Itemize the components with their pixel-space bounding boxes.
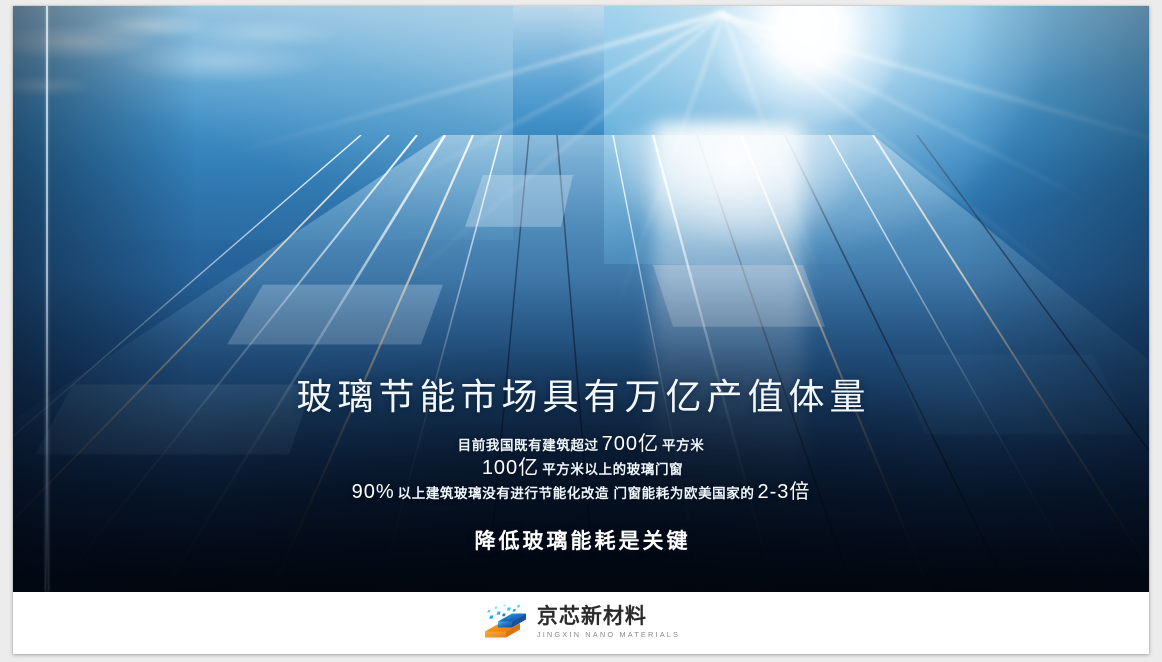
presentation-slide: 玻璃节能市场具有万亿产值体量 目前我国既有建筑超过700亿平方米 100亿平方米… bbox=[13, 6, 1149, 654]
stat-1-figure: 700亿 bbox=[599, 433, 662, 455]
stat-2-figure: 100亿 bbox=[479, 457, 542, 479]
tagline: 降低玻璃能耗是关键 bbox=[13, 525, 1149, 555]
company-logo: 京芯新材料 JINGXIN NANO MATERIALS bbox=[482, 604, 680, 642]
stat-3-suffix: 以上建筑玻璃没有进行节能化改造 门窗能耗为欧美国家的 bbox=[398, 486, 755, 501]
logo-name-cn: 京芯新材料 bbox=[537, 606, 680, 628]
stat-3-figure-2: 2-3倍 bbox=[754, 481, 813, 503]
jingxin-logo-mark-icon bbox=[482, 604, 528, 642]
stat-line-1: 目前我国既有建筑超过700亿平方米 bbox=[13, 433, 1149, 457]
slide-footer: 京芯新材料 JINGXIN NANO MATERIALS bbox=[13, 592, 1149, 654]
stat-line-3: 90%以上建筑玻璃没有进行节能化改造 门窗能耗为欧美国家的2-3倍 bbox=[13, 481, 1149, 505]
stat-3-figure: 90% bbox=[349, 481, 398, 503]
stat-2-suffix: 平方米以上的玻璃门窗 bbox=[542, 462, 683, 477]
page-title: 玻璃节能市场具有万亿产值体量 bbox=[13, 374, 1149, 419]
hero-image: 玻璃节能市场具有万亿产值体量 目前我国既有建筑超过700亿平方米 100亿平方米… bbox=[13, 6, 1149, 592]
stat-1-suffix: 平方米 bbox=[662, 438, 704, 453]
slide-copy: 玻璃节能市场具有万亿产值体量 目前我国既有建筑超过700亿平方米 100亿平方米… bbox=[13, 374, 1149, 555]
logo-name-en: JINGXIN NANO MATERIALS bbox=[537, 630, 680, 640]
stat-1-prefix: 目前我国既有建筑超过 bbox=[458, 438, 599, 453]
stat-line-2: 100亿平方米以上的玻璃门窗 bbox=[13, 457, 1149, 481]
logo-text-block: 京芯新材料 JINGXIN NANO MATERIALS bbox=[537, 606, 680, 640]
